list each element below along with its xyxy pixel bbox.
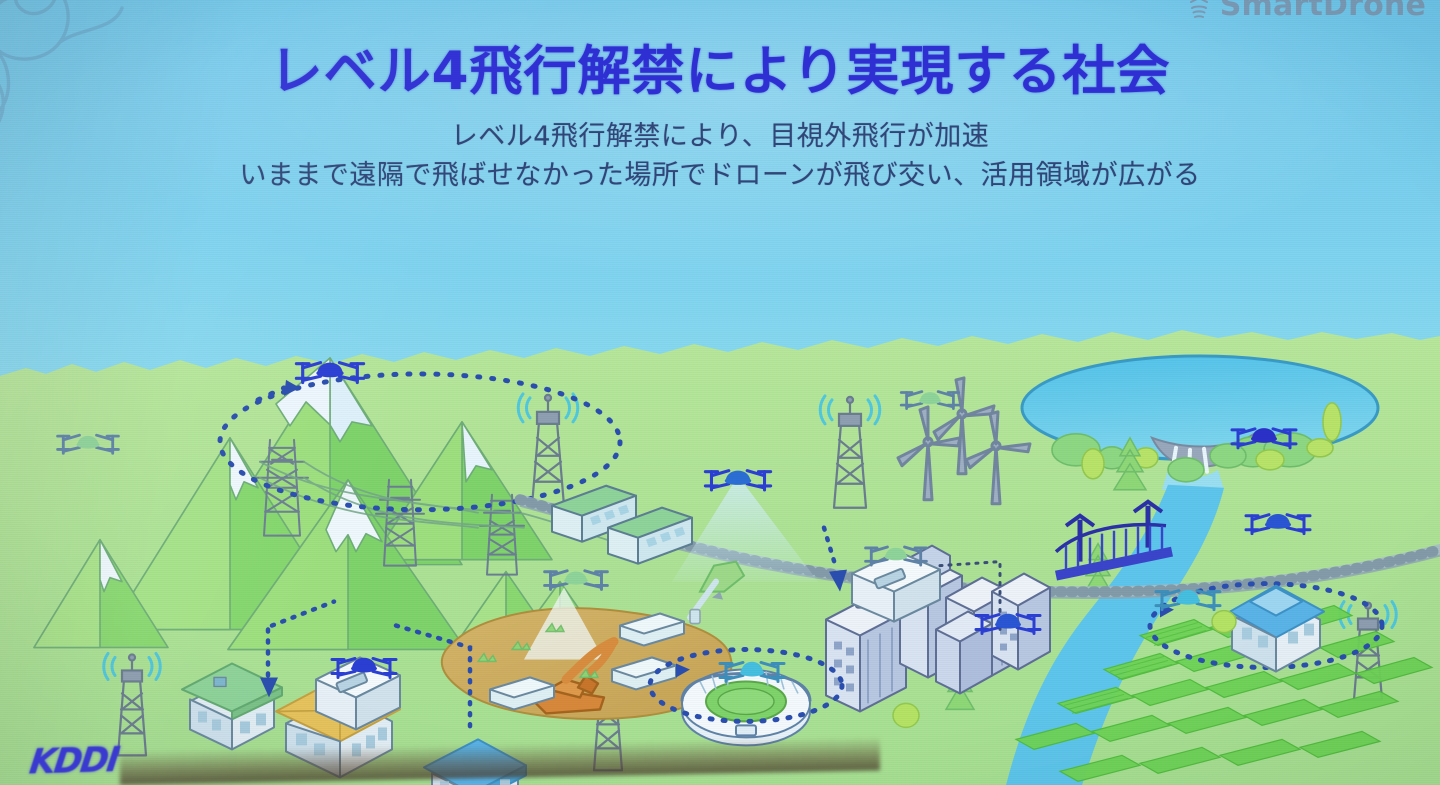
smartdrone-mark-icon	[1186, 0, 1212, 22]
smartdrone-logo-text: SmartDrone	[1220, 0, 1426, 23]
slide-subtitle: レベル4飛行解禁により、目視外飛行が加速 いままで遠隔で飛ばせなかった場所でドロ…	[0, 118, 1440, 196]
subtitle-line-1: レベル4飛行解禁により、目視外飛行が加速	[0, 118, 1440, 157]
subtitle-line-2: いままで遠隔で飛ばせなかった場所でドローンが飛び交い、活用領域が広がる	[0, 157, 1440, 196]
kddi-logo: KDDI	[27, 740, 120, 782]
landscape-illustration	[0, 330, 1440, 785]
slide-title: レベル4飛行解禁により実現する社会	[0, 42, 1440, 101]
stadium	[682, 669, 810, 745]
smartdrone-logo: SmartDrone	[1186, 0, 1426, 23]
presentation-slide: SmartDrone レベル4飛行解禁により実現する社会 レベル4飛行解禁により…	[0, 0, 1440, 785]
